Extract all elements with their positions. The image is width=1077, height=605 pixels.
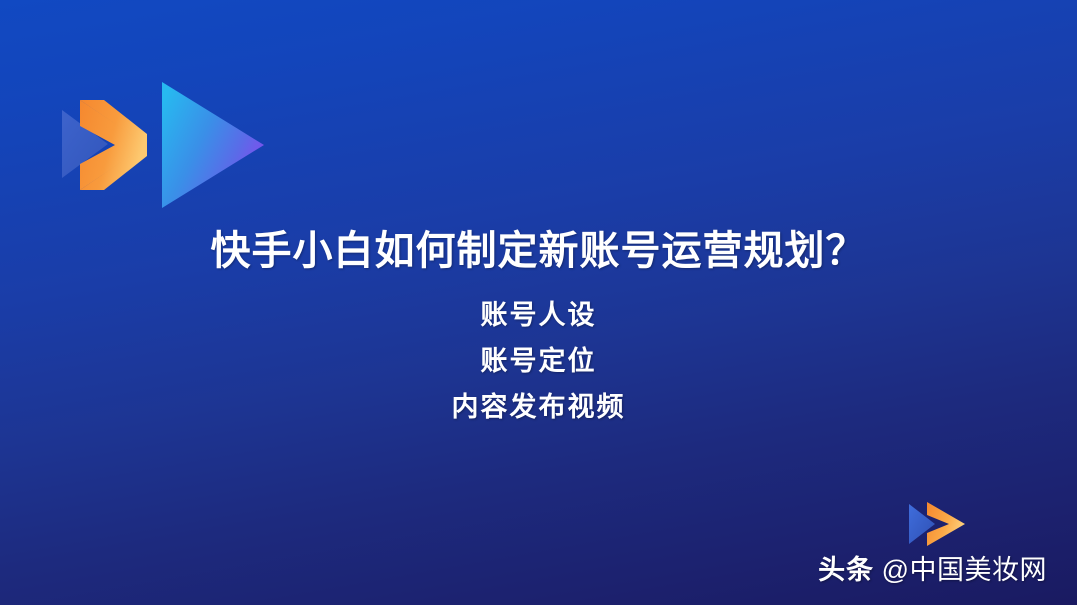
page-title: 快手小白如何制定新账号运营规划？ <box>0 222 1077 280</box>
watermark-handle-label: @中国美妆网 <box>882 555 1047 585</box>
gradient-play-triangle-icon <box>162 82 264 208</box>
watermark-brand-label: 头条 <box>818 555 874 585</box>
subtitle-list: 账号人设 账号定位 内容发布视频 <box>0 292 1077 430</box>
subtitle-line-2: 账号定位 <box>0 338 1077 384</box>
subtitle-line-1: 账号人设 <box>0 292 1077 338</box>
toutiao-play-logo-icon <box>903 499 975 549</box>
watermark: 头条 @中国美妆网 <box>783 499 1053 587</box>
brand-mark <box>52 72 282 217</box>
headline-block: 快手小白如何制定新账号运营规划？ 账号人设 账号定位 内容发布视频 <box>0 222 1077 430</box>
presentation-slide: 快手小白如何制定新账号运营规划？ 账号人设 账号定位 内容发布视频 <box>0 0 1077 605</box>
brand-mark-svg <box>52 72 282 217</box>
subtitle-line-3: 内容发布视频 <box>0 384 1077 430</box>
watermark-text: 头条 @中国美妆网 <box>783 553 1053 587</box>
